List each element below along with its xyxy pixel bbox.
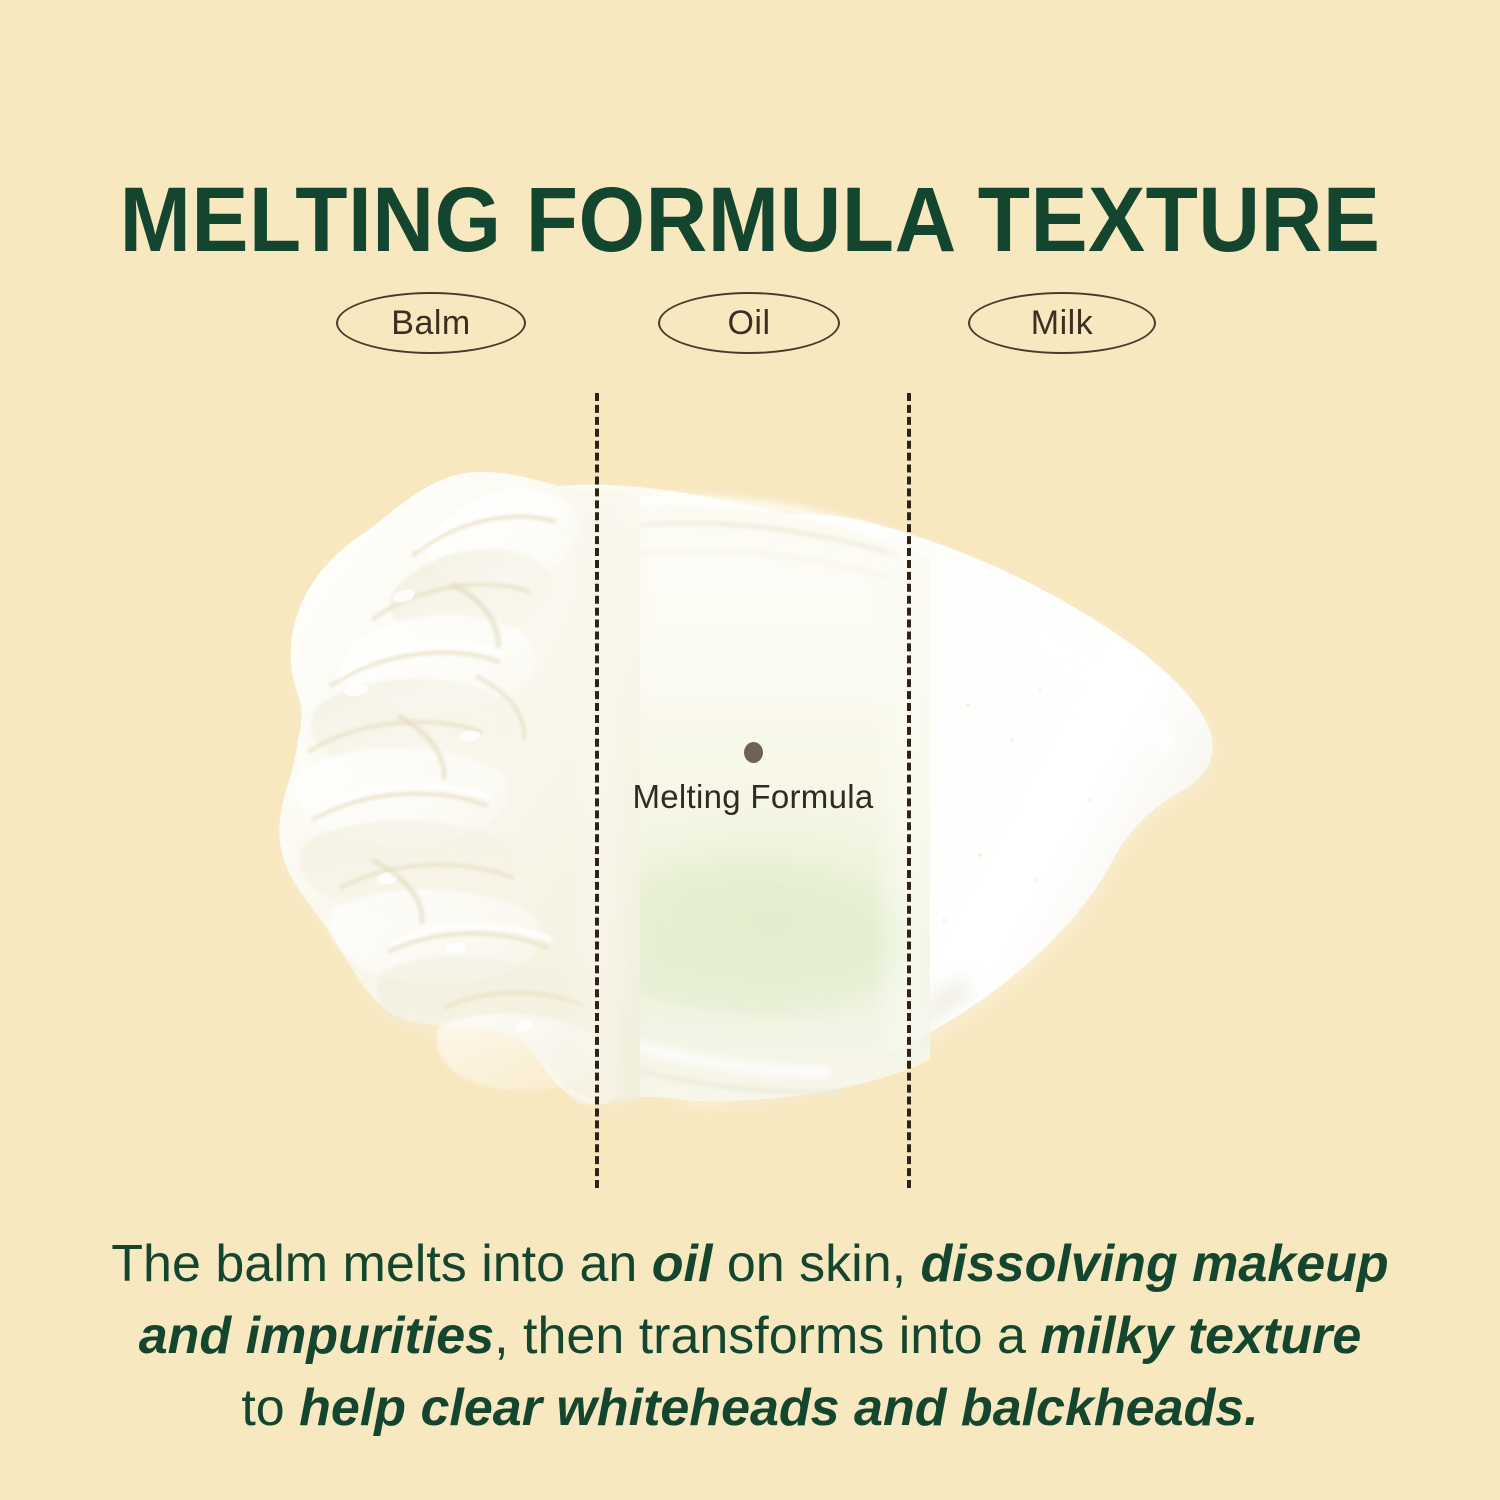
texture-illustration <box>0 0 1500 1500</box>
divider-balm-oil <box>595 393 599 1188</box>
product-texture-infographic: MELTING FORMULA TEXTURE <box>0 0 1500 1500</box>
texture-svg <box>0 0 1500 1500</box>
divider-oil-milk <box>907 393 911 1188</box>
